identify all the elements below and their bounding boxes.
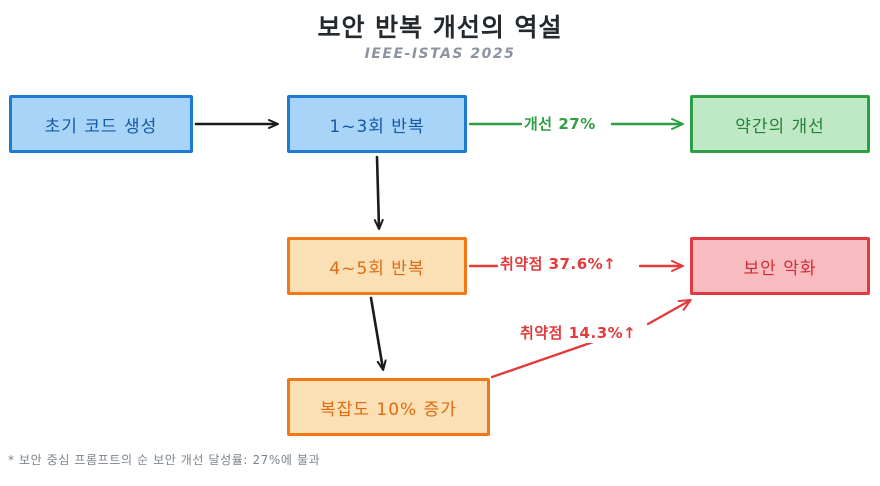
edge-iter13-to-iter45	[377, 157, 379, 228]
edge-complex-to-degrade-lower	[492, 341, 596, 377]
node-label: 초기 코드 생성	[45, 112, 158, 137]
footnote: * 보안 중심 프롬프트의 순 보안 개선 달성률: 27%에 불과	[8, 451, 320, 468]
diagram-canvas: 보안 반복 개선의 역설 IEEE-ISTAS 2025	[0, 0, 880, 486]
node-complexity-increase[interactable]: 복잡도 10% 증가	[287, 378, 490, 436]
edge-label-improvement-rate: 개선 27%	[522, 113, 598, 134]
node-label: 1~3회 반복	[329, 112, 424, 137]
node-label: 4~5회 반복	[329, 254, 424, 279]
node-initial-code-generation[interactable]: 초기 코드 생성	[9, 95, 193, 153]
node-slight-improvement[interactable]: 약간의 개선	[690, 95, 870, 153]
edge-complex-to-degrade-upper	[648, 301, 689, 324]
edge-label-vulnerability-14-3: 취약점 14.3%↑	[518, 322, 638, 343]
page-subtitle: IEEE-ISTAS 2025	[0, 46, 880, 62]
edge-iter45-to-complex	[371, 298, 383, 369]
edge-label-vulnerability-37-6: 취약점 37.6%↑	[498, 253, 618, 274]
node-label: 복잡도 10% 증가	[320, 395, 457, 420]
node-security-degradation[interactable]: 보안 악화	[690, 237, 870, 295]
node-iterations-4-5[interactable]: 4~5회 반복	[287, 237, 467, 295]
node-label: 보안 악화	[744, 254, 817, 279]
node-iterations-1-3[interactable]: 1~3회 반복	[287, 95, 467, 153]
page-title: 보안 반복 개선의 역설	[0, 8, 880, 44]
node-label: 약간의 개선	[735, 112, 825, 137]
